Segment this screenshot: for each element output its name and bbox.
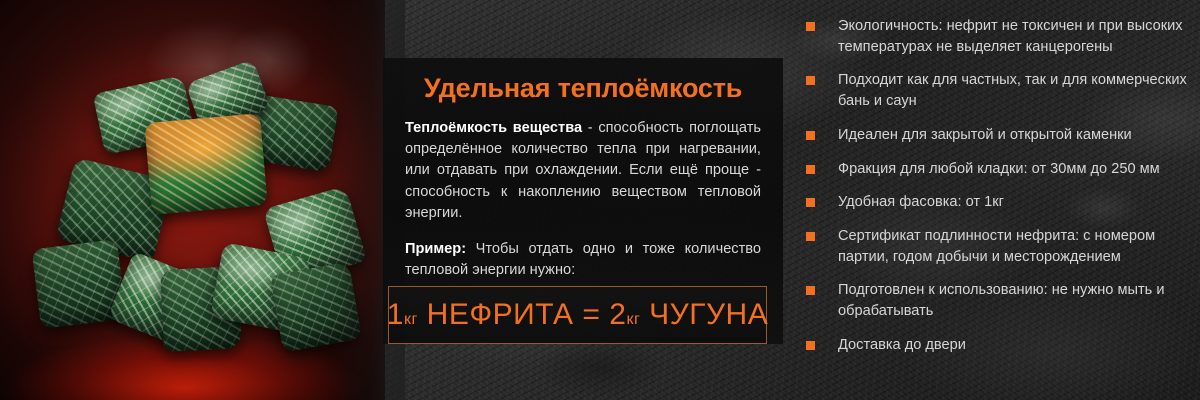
page-title: Удельная теплоёмкость [405,74,761,104]
formula-left-material: НЕФРИТА [427,298,574,331]
list-item: Подготовлен к использованию: не нужно мы… [806,280,1188,321]
list-item-label: Фракция для любой кладки: от 30мм до 250… [838,159,1188,180]
square-bullet-icon [806,341,815,350]
list-item: Доставка до двери [806,335,1188,356]
list-item-label: Подготовлен к использованию: не нужно мы… [838,280,1188,321]
comparison-formula-text: 1кг НЕФРИТА = 2кг ЧУГУНА [387,298,768,332]
formula-right-material: ЧУГУНА [649,298,768,331]
formula-equals-sign: = [582,298,600,331]
square-bullet-icon [806,76,815,85]
formula-right-number: 2 [609,298,626,331]
square-bullet-icon [806,232,815,241]
promo-banner: Удельная теплоёмкость Теплоёмкость вещес… [0,0,1200,400]
list-item-label: Идеален для закрытой и открытой каменки [838,125,1188,146]
definition-paragraph: Теплоёмкость вещества - способность погл… [405,118,761,224]
square-bullet-icon [806,165,815,174]
formula-right-unit: кг [626,311,640,328]
list-item: Удобная фасовка: от 1кг [806,192,1188,213]
list-item-label: Доставка до двери [838,335,1188,356]
formula-left-unit: кг [404,311,418,328]
list-item: Сертификат подлинности нефрита: с номеро… [806,226,1188,267]
square-bullet-icon [806,198,815,207]
example-lead: Пример: [405,241,466,257]
definition-lead: Теплоёмкость вещества [405,120,582,136]
list-item: Подходит как для частных, так и для комм… [806,70,1188,111]
stone-pile [0,0,385,400]
list-item-label: Удобная фасовка: от 1кг [838,192,1188,213]
list-item-label: Экологичность: нефрит не токсичен и при … [838,16,1188,57]
list-item: Фракция для любой кладки: от 30мм до 250… [806,159,1188,180]
list-item-label: Подходит как для частных, так и для комм… [838,70,1188,111]
list-item: Экологичность: нефрит не токсичен и при … [806,16,1188,57]
formula-left-number: 1 [387,298,404,331]
square-bullet-icon [806,131,815,140]
features-list: Экологичность: нефрит не токсичен и при … [806,16,1188,369]
example-paragraph: Пример: Чтобы отдать одно и тоже количес… [405,239,761,282]
nephrite-stones-photo [0,0,385,400]
square-bullet-icon [806,286,815,295]
list-item: Идеален для закрытой и открытой каменки [806,125,1188,146]
square-bullet-icon [806,22,815,31]
list-item-label: Сертификат подлинности нефрита: с номеро… [838,226,1188,267]
comparison-formula-box: 1кг НЕФРИТА = 2кг ЧУГУНА [388,286,767,344]
